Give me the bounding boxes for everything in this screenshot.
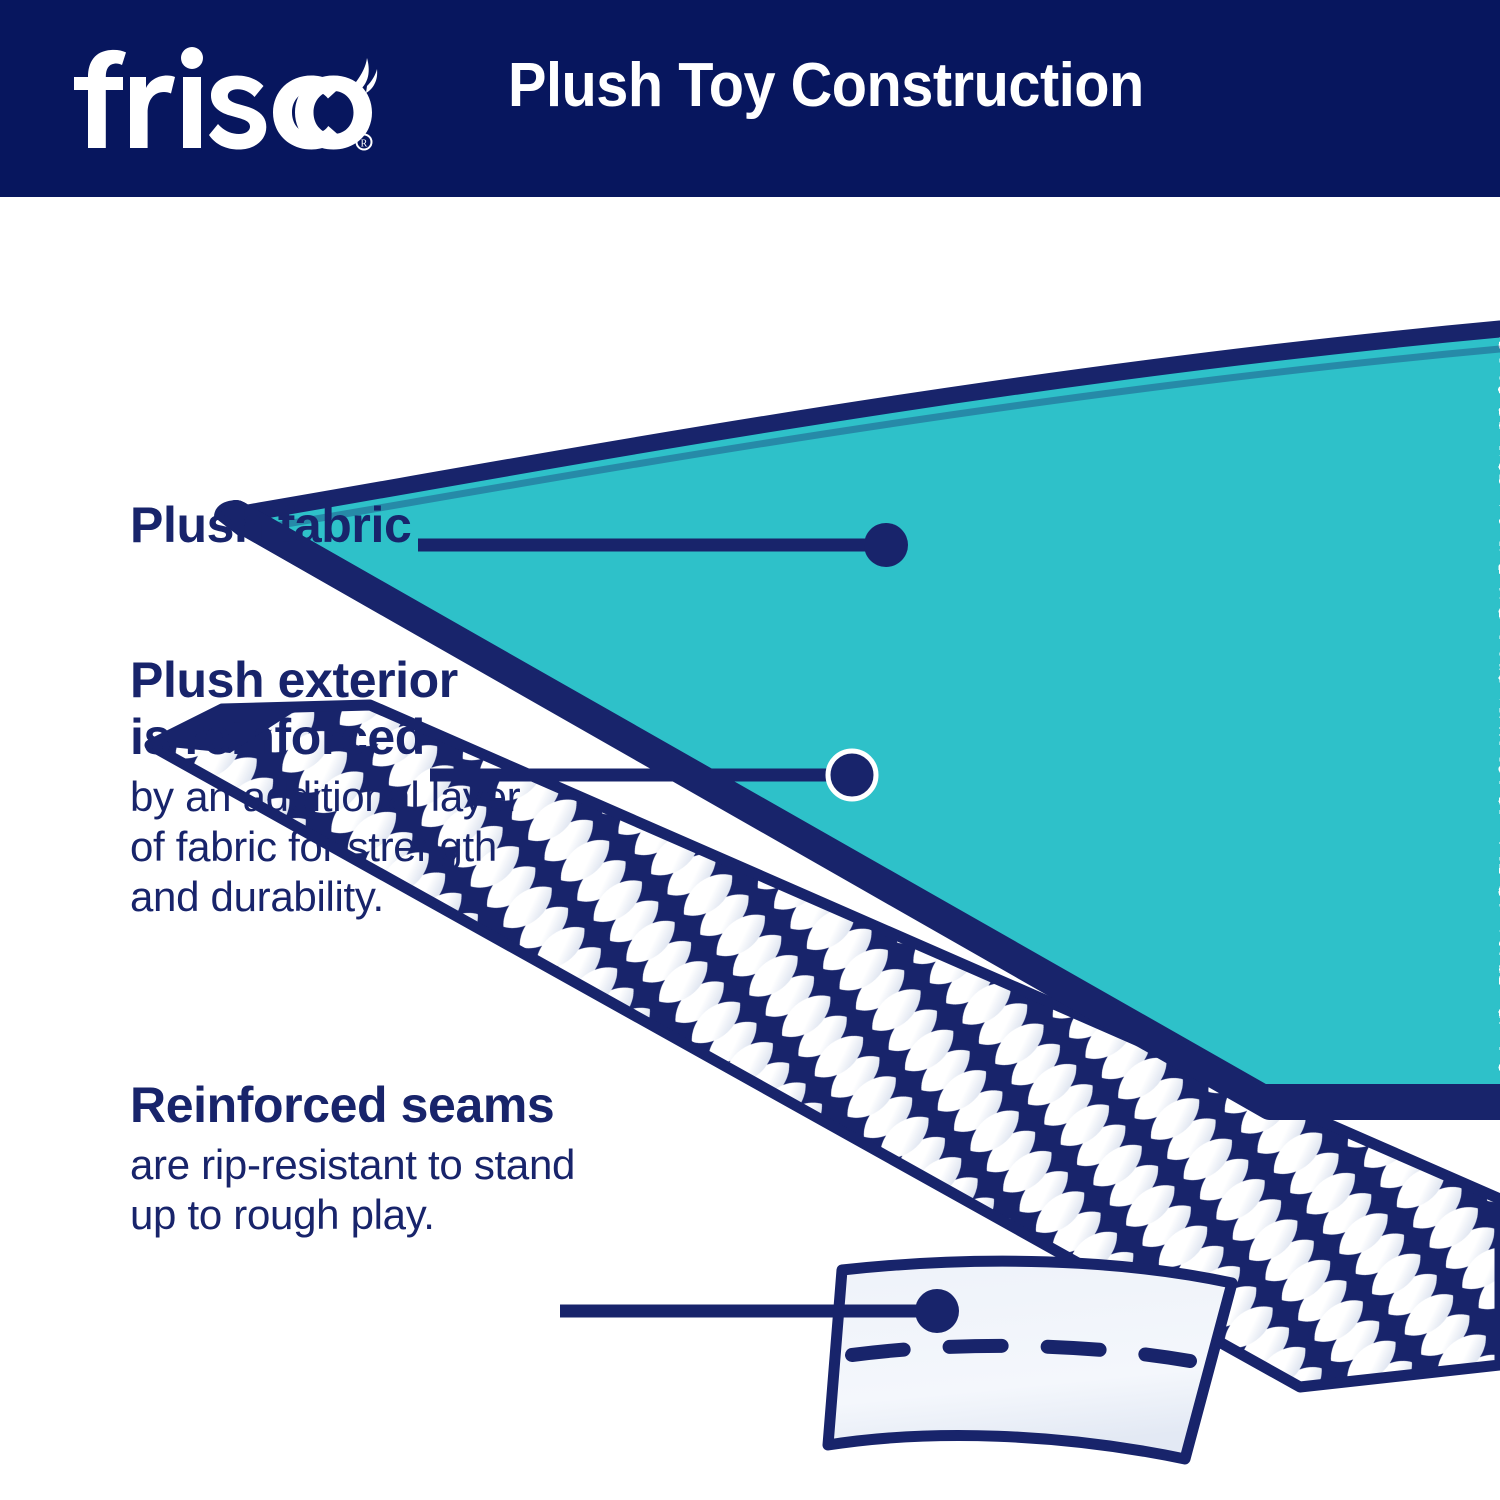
registered-trademark-mark: R	[357, 135, 372, 150]
leader-dot-plush-fabric	[864, 523, 908, 567]
leader-dot-plush-exterior	[828, 751, 876, 799]
callout-heading-line-1: Plush exterior	[130, 652, 520, 709]
callout-body-line-2: of fabric for strength	[130, 822, 520, 872]
callout-body-line-3: and durability.	[130, 872, 520, 922]
callout-body-line-1: by an additional layer	[130, 772, 520, 822]
svg-text:R: R	[361, 139, 368, 150]
callout-heading-line-2: is reinforced	[130, 709, 520, 766]
infographic-page: R Plush Toy Construction	[0, 0, 1500, 1500]
callout-body-plush-exterior: by an additional layer of fabric for str…	[130, 772, 520, 922]
seam-flap	[828, 1261, 1232, 1459]
frisco-logo: R	[70, 44, 380, 152]
callout-list: Plush fabric Plush exterior is reinforce…	[0, 197, 760, 1500]
callout-plush-fabric: Plush fabric	[130, 497, 411, 554]
callout-heading-plush-fabric: Plush fabric	[130, 497, 411, 554]
leader-dot-reinforced-seams	[915, 1289, 959, 1333]
callout-body-line-1: are rip-resistant to stand	[130, 1140, 575, 1190]
page-title: Plush Toy Construction	[508, 50, 1144, 121]
callout-plush-exterior: Plush exterior is reinforced by an addit…	[130, 652, 520, 922]
callout-body-line-2: up to rough play.	[130, 1190, 575, 1240]
callout-heading-reinforced-seams: Reinforced seams	[130, 1077, 575, 1134]
callout-body-reinforced-seams: are rip-resistant to stand up to rough p…	[130, 1140, 575, 1240]
callout-reinforced-seams: Reinforced seams are rip-resistant to st…	[130, 1077, 575, 1240]
header-bar: R Plush Toy Construction	[0, 0, 1500, 197]
